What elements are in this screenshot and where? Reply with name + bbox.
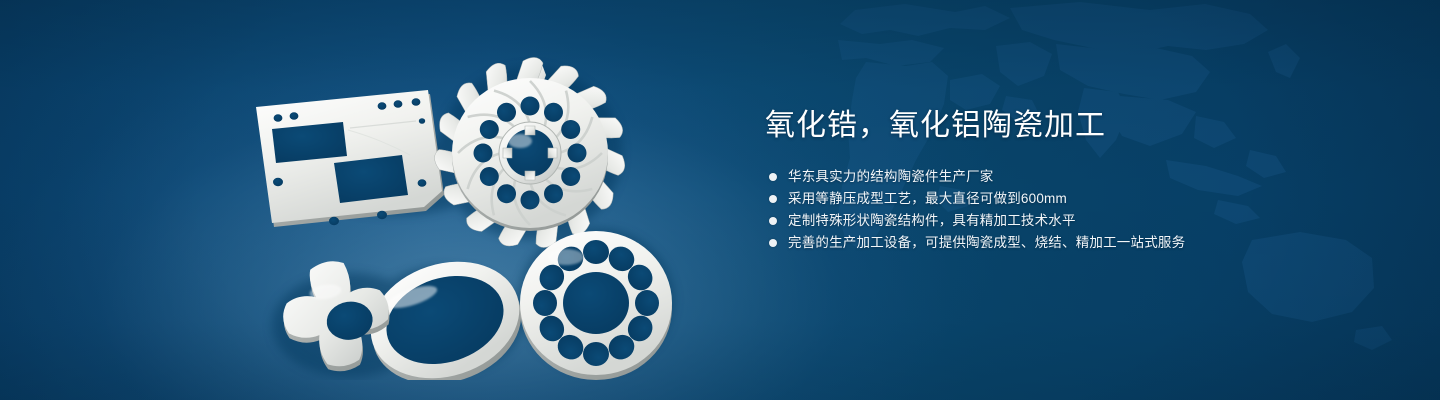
hero-banner: 氧化锆，氧化铝陶瓷加工 华东具实力的结构陶瓷件生产厂家 采用等静压成型工艺，最大… xyxy=(0,0,1440,400)
bullet-dot-icon xyxy=(769,217,777,225)
list-item: 完善的生产加工设备，可提供陶瓷成型、烧结、精加工一站式服务 xyxy=(769,232,1365,254)
banner-copy: 氧化锆，氧化铝陶瓷加工 华东具实力的结构陶瓷件生产厂家 采用等静压成型工艺，最大… xyxy=(765,104,1365,254)
bullet-dot-icon xyxy=(769,195,777,203)
list-item: 华东具实力的结构陶瓷件生产厂家 xyxy=(769,166,1365,188)
bullet-dot-icon xyxy=(769,173,777,181)
feature-text: 华东具实力的结构陶瓷件生产厂家 xyxy=(788,166,994,188)
feature-text: 采用等静压成型工艺，最大直径可做到600mm xyxy=(788,188,1067,210)
list-item: 定制特殊形状陶瓷结构件，具有精加工技术水平 xyxy=(769,210,1365,232)
bullet-dot-icon xyxy=(769,239,777,247)
list-item: 采用等静压成型工艺，最大直径可做到600mm xyxy=(769,188,1365,210)
banner-headline: 氧化锆，氧化铝陶瓷加工 xyxy=(765,104,1365,148)
feature-text: 完善的生产加工设备，可提供陶瓷成型、烧结、精加工一站式服务 xyxy=(788,232,1185,254)
banner-feature-list: 华东具实力的结构陶瓷件生产厂家 采用等静压成型工艺，最大直径可做到600mm 定… xyxy=(769,166,1365,254)
feature-text: 定制特殊形状陶瓷结构件，具有精加工技术水平 xyxy=(788,210,1076,232)
